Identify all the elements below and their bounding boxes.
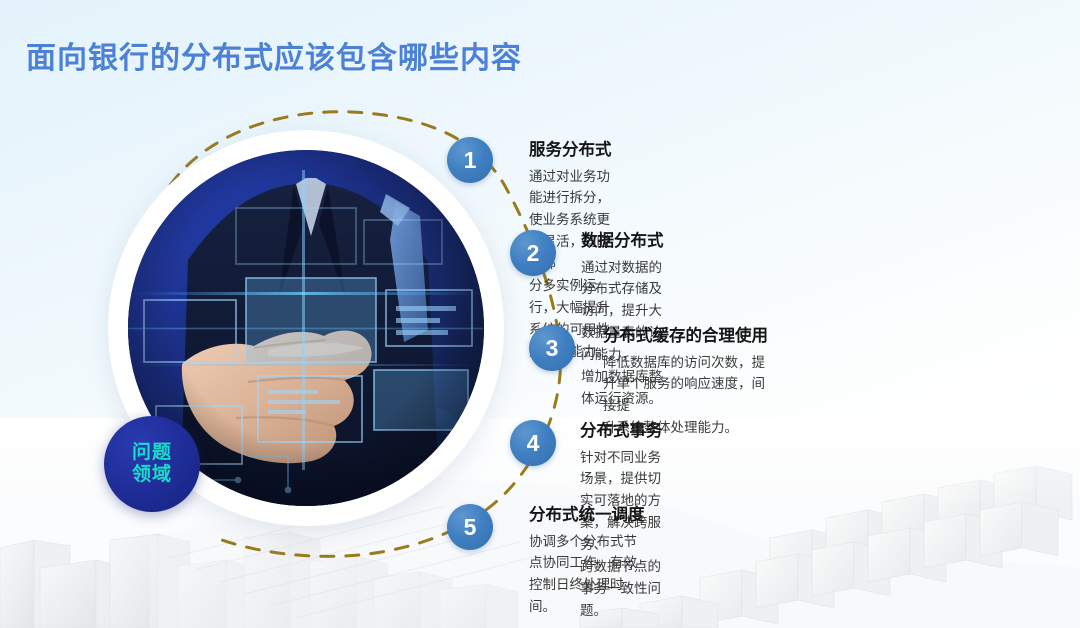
problem-domain-line1: 问题 [132, 442, 172, 464]
page-title: 面向银行的分布式应该包含哪些内容 [26, 33, 522, 77]
item-title: 分布式统一调度 [529, 505, 645, 526]
problem-domain-badge: 问题 领域 [104, 416, 200, 512]
item-description: 协调多个分布式节点协同工作，有效控制日终处理时间。 [529, 531, 645, 618]
item-number-badge: 4 [510, 420, 556, 466]
item-number-badge: 1 [447, 137, 493, 183]
item-title: 分布式事务 [580, 421, 663, 442]
item-number-badge: 3 [529, 325, 575, 371]
item-text-block: 分布式统一调度 协调多个分布式节点协同工作，有效控制日终处理时间。 [529, 505, 645, 618]
item-number-badge: 2 [510, 230, 556, 276]
item-number-badge: 5 [447, 504, 493, 550]
item-title: 分布式缓存的合理使用 [603, 326, 768, 347]
problem-domain-line2: 领域 [132, 464, 172, 486]
slide-canvas: 面向银行的分布式应该包含哪些内容 [0, 0, 1080, 628]
item-title: 数据分布式 [581, 231, 664, 252]
item-title: 服务分布式 [529, 140, 612, 161]
